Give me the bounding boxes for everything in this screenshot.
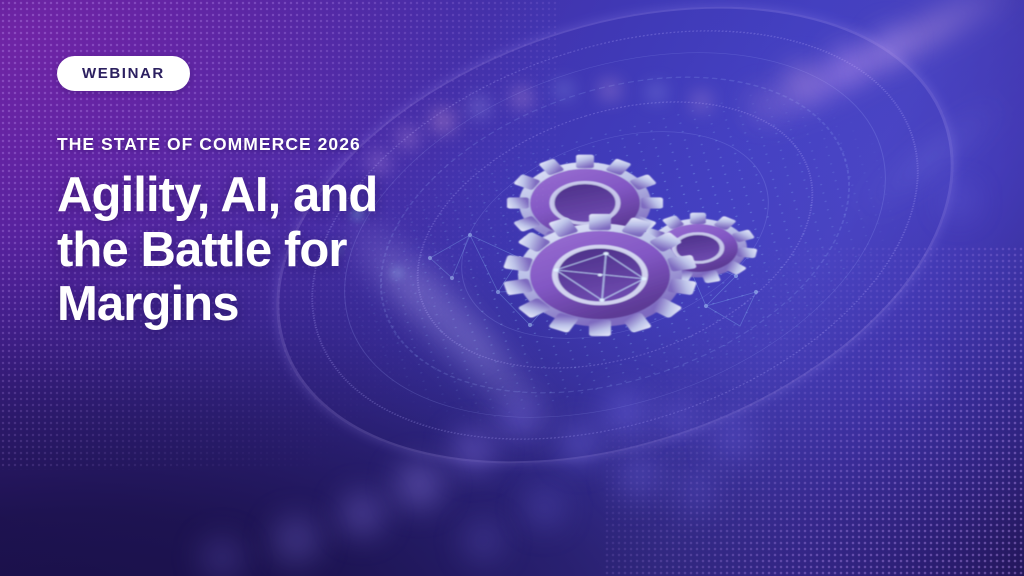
headline-line-2: the Battle for [57, 223, 527, 278]
bokeh-dot [752, 92, 776, 116]
halftone-texture-bottom-right [604, 246, 1024, 576]
webinar-badge-label: WEBINAR [82, 66, 165, 81]
eyebrow-text: THE STATE OF COMMERCE 2026 [57, 134, 527, 155]
webinar-badge: WEBINAR [57, 56, 190, 91]
bokeh-dot [200, 536, 244, 576]
bokeh-dot [340, 492, 384, 536]
bokeh-dot [600, 80, 620, 100]
headline-line-3: Margins [57, 277, 527, 332]
bokeh-dot [692, 92, 711, 111]
banner-content: WEBINAR THE STATE OF COMMERCE 2026 Agili… [57, 56, 527, 332]
bokeh-dot [272, 516, 320, 564]
bokeh-dot [560, 424, 600, 464]
bokeh-dot [832, 46, 858, 72]
headline: Agility, AI, and the Battle for Margins [57, 168, 527, 332]
bokeh-dot [462, 520, 504, 562]
bokeh-dot [944, 186, 974, 216]
bokeh-dot [876, 30, 906, 60]
bokeh-dot [524, 488, 564, 528]
webinar-promo-banner: WEBINAR THE STATE OF COMMERCE 2026 Agili… [0, 0, 1024, 576]
bokeh-dot [786, 66, 816, 96]
bokeh-dot [648, 84, 665, 101]
headline-line-1: Agility, AI, and [57, 168, 527, 223]
